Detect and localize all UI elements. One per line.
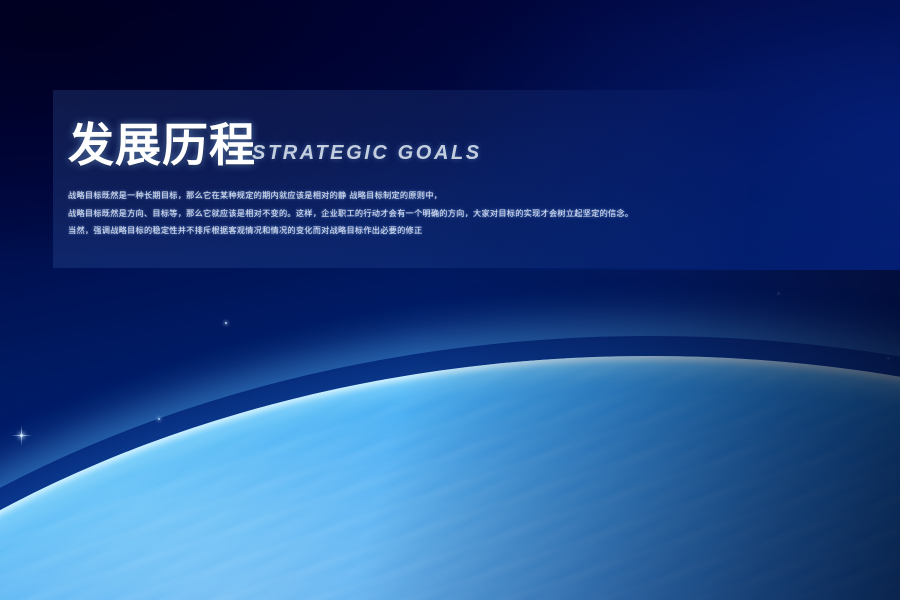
body-line: 当然，强调战略目标的稳定性并不排斥根据客观情况和情况的变化而对战略目标作出必要的…	[68, 222, 868, 240]
body-line: 战略目标既然是一种长期目标，那么它在某种规定的期内就应该是相对的静 战略目标制定…	[68, 187, 868, 205]
body-copy: 战略目标既然是一种长期目标，那么它在某种规定的期内就应该是相对的静 战略目标制定…	[68, 187, 868, 240]
banner-canvas: 发展历程 STRATEGIC GOALS 战略目标既然是一种长期目标，那么它在某…	[0, 0, 900, 600]
page-title: 发展历程	[68, 120, 256, 170]
earth-globe	[0, 270, 900, 600]
body-line: 战略目标既然是方向、目标等，那么它就应该是相对不变的。这样，企业职工的行动才会有…	[68, 205, 868, 223]
page-subtitle: STRATEGIC GOALS	[252, 142, 482, 170]
earth-atmosphere-rim	[0, 356, 900, 600]
headline-row: 发展历程 STRATEGIC GOALS	[68, 112, 868, 170]
headline-block: 发展历程 STRATEGIC GOALS 战略目标既然是一种长期目标，那么它在某…	[68, 112, 868, 240]
